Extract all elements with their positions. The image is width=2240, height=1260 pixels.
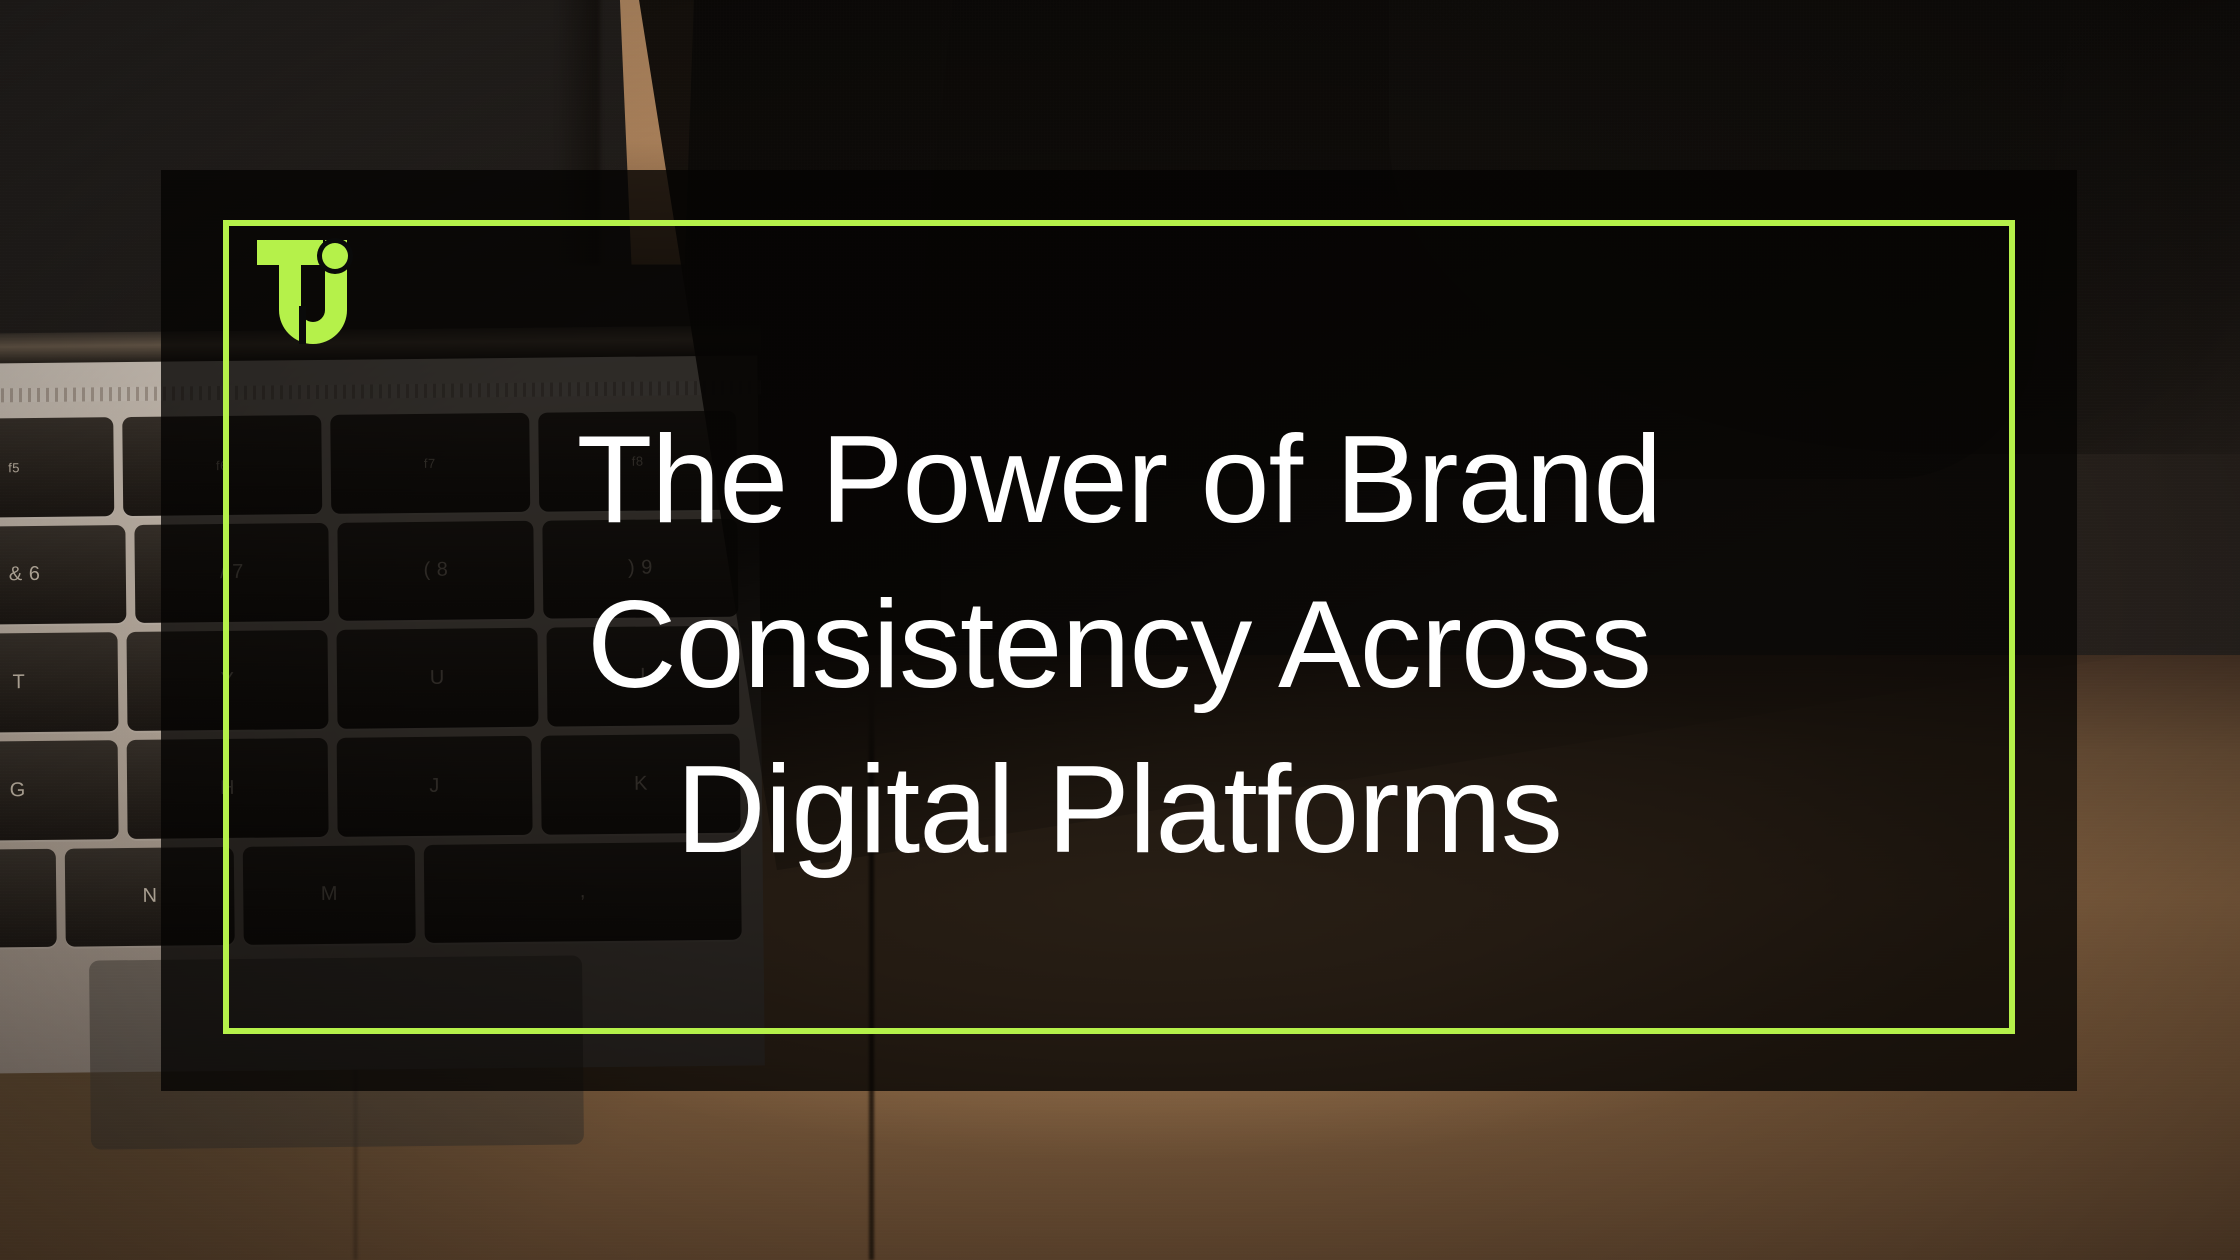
page-title: The Power of Brand Consistency Across Di… [223,398,2015,893]
slide-canvas: f4 f5 f6 f7 f8 % 5 & 6 / 7 ( 8 ) 9 R T Y… [0,0,2240,1260]
content-card: The Power of Brand Consistency Across Di… [161,170,2077,1091]
tu-monogram-logo-icon [251,232,359,352]
